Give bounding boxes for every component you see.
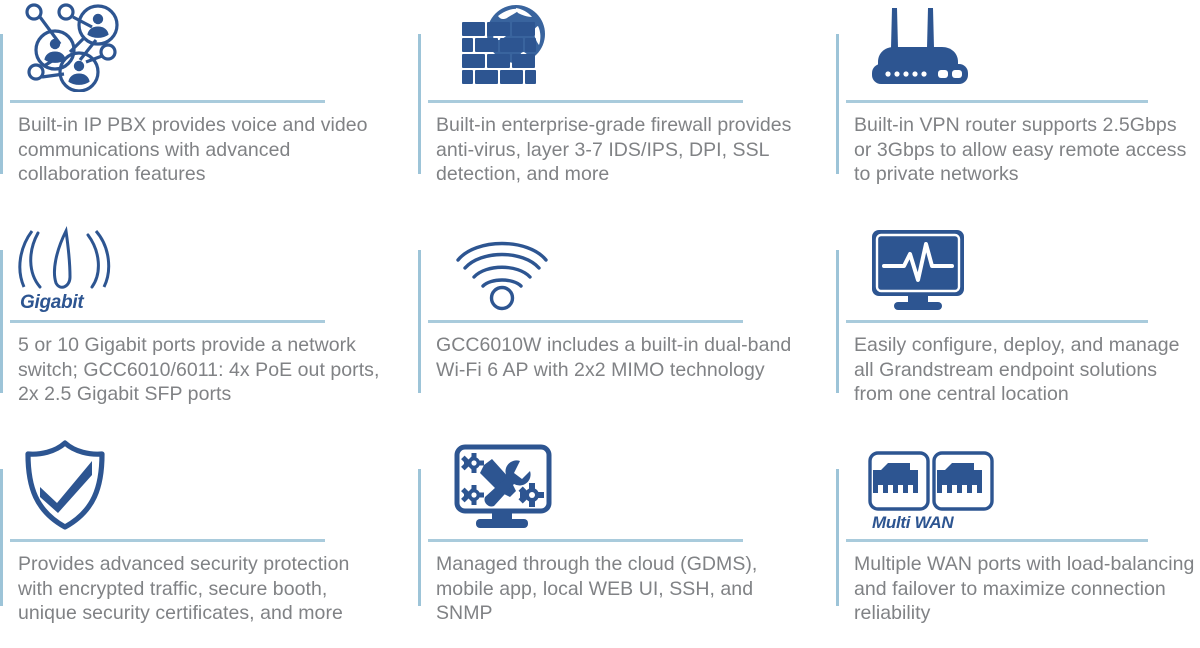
icon-area: Gigabit xyxy=(10,216,418,312)
multi-wan-badge-label: Multi WAN xyxy=(872,514,953,531)
cell-accent-rule xyxy=(0,250,3,393)
shield-check-icon xyxy=(22,439,108,531)
icon-area xyxy=(428,216,836,312)
cell-accent-rule xyxy=(836,34,839,174)
feature-description: Easily configure, deploy, and manage all… xyxy=(846,333,1198,407)
cell-accent-rule xyxy=(418,34,421,174)
feature-grid: Built-in IP PBX provides voice and video… xyxy=(0,0,1200,648)
feature-description: Built-in enterprise-grade firewall provi… xyxy=(428,113,798,187)
feature-card-security: Provides advanced security protection wi… xyxy=(0,435,418,648)
router-antenna-icon xyxy=(868,0,978,92)
monitor-tools-icon xyxy=(452,443,558,531)
icon-area xyxy=(428,0,836,92)
icon-area: Multi WAN xyxy=(846,435,1200,531)
feature-card-firewall: Built-in enterprise-grade firewall provi… xyxy=(418,0,836,216)
feature-card-multi-wan: Multi WAN Multiple WAN ports with load-b… xyxy=(836,435,1200,648)
wifi-icon xyxy=(452,232,558,312)
divider-rule xyxy=(846,320,1148,323)
feature-card-gigabit-ports: Gigabit 5 or 10 Gigabit ports provide a … xyxy=(0,216,418,435)
cell-accent-rule xyxy=(0,34,3,174)
feature-card-central-management: Easily configure, deploy, and manage all… xyxy=(836,216,1200,435)
cell-accent-rule xyxy=(836,250,839,393)
cell-accent-rule xyxy=(418,250,421,393)
divider-rule xyxy=(846,100,1148,103)
gigabit-logo-icon xyxy=(18,225,114,291)
feature-description: GCC6010W includes a built-in dual-band W… xyxy=(428,333,798,382)
network-people-icon xyxy=(18,0,122,92)
divider-rule xyxy=(10,539,325,542)
feature-card-vpn-router: Built-in VPN router supports 2.5Gbps or … xyxy=(836,0,1200,216)
gigabit-badge-label: Gigabit xyxy=(20,293,83,312)
feature-description: 5 or 10 Gigabit ports provide a network … xyxy=(10,333,380,407)
cell-accent-rule xyxy=(418,469,421,606)
feature-description: Multiple WAN ports with load-balancing a… xyxy=(846,552,1198,626)
rj45-ports-icon xyxy=(868,451,996,513)
icon-area xyxy=(846,216,1200,312)
feature-description: Built-in IP PBX provides voice and video… xyxy=(10,113,380,187)
divider-rule xyxy=(846,539,1148,542)
divider-rule xyxy=(10,100,325,103)
feature-card-cloud-managed: Managed through the cloud (GDMS), mobile… xyxy=(418,435,836,648)
icon-area xyxy=(428,435,836,531)
cell-accent-rule xyxy=(0,469,3,606)
icon-area xyxy=(10,435,418,531)
feature-card-ip-pbx: Built-in IP PBX provides voice and video… xyxy=(0,0,418,216)
icon-area xyxy=(10,0,418,92)
feature-description: Provides advanced security protection wi… xyxy=(10,552,380,626)
divider-rule xyxy=(10,320,325,323)
divider-rule xyxy=(428,100,743,103)
divider-rule xyxy=(428,539,743,542)
monitor-pulse-icon xyxy=(868,228,974,312)
icon-area xyxy=(846,0,1200,92)
feature-description: Built-in VPN router supports 2.5Gbps or … xyxy=(846,113,1198,187)
divider-rule xyxy=(428,320,743,323)
feature-description: Managed through the cloud (GDMS), mobile… xyxy=(428,552,798,626)
firewall-globe-icon xyxy=(454,0,554,92)
cell-accent-rule xyxy=(836,469,839,606)
feature-card-wifi6: GCC6010W includes a built-in dual-band W… xyxy=(418,216,836,435)
